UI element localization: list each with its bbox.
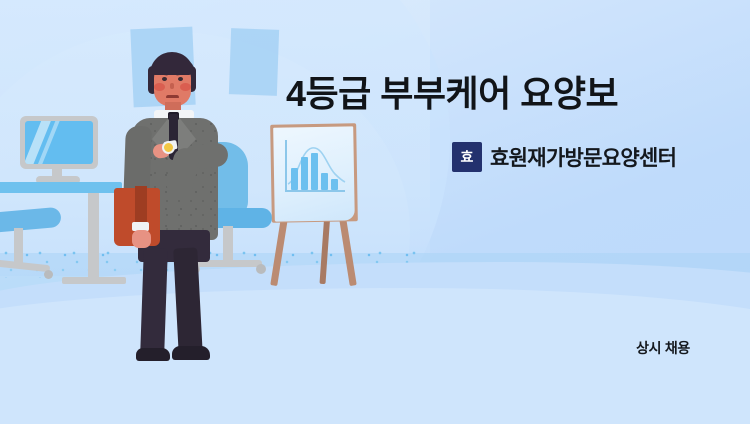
desk-foot (62, 277, 126, 284)
monitor-screen-icon (25, 121, 93, 164)
brand-lockup: 효 효원재가방문요양센터 (452, 142, 676, 172)
brand-name: 효원재가방문요양센터 (490, 142, 676, 172)
recruitment-status-text: 상시 채용 (636, 338, 690, 358)
chart-bar (321, 173, 328, 190)
office-chair-right-wheel-2 (256, 264, 266, 274)
brand-badge-icon: 효 (452, 142, 482, 172)
nose (170, 83, 174, 89)
wristwatch-icon (162, 141, 175, 154)
eye-left (162, 77, 167, 81)
hand-left (132, 230, 151, 248)
cheek-right (180, 83, 191, 91)
chart-bar (331, 179, 338, 190)
leg-right (173, 247, 203, 356)
shoe-right (172, 346, 210, 360)
desk-surface (0, 182, 122, 193)
page-title: 4등급 부부케어 요양보 (286, 74, 618, 114)
cheek-left (154, 83, 165, 91)
leg-left (140, 248, 168, 357)
chart-bar (311, 153, 318, 190)
chart-bar (301, 157, 308, 190)
shoe-left (136, 348, 170, 361)
chart-bar (291, 168, 298, 190)
bar-chart-icon (285, 140, 347, 198)
wall-poster-secondary-icon (229, 28, 279, 96)
office-chair-left-wheel-2 (44, 270, 53, 279)
eye-right (178, 77, 183, 81)
desk-leg (88, 193, 99, 283)
hair-fringe (151, 60, 194, 75)
businessman-illustration (118, 52, 236, 370)
mouth (166, 95, 179, 98)
office-chair-left-post (14, 228, 23, 266)
recruitment-banner: 4등급 부부케어 요양보 효 효원재가방문요양센터 상시 채용 (0, 0, 750, 424)
